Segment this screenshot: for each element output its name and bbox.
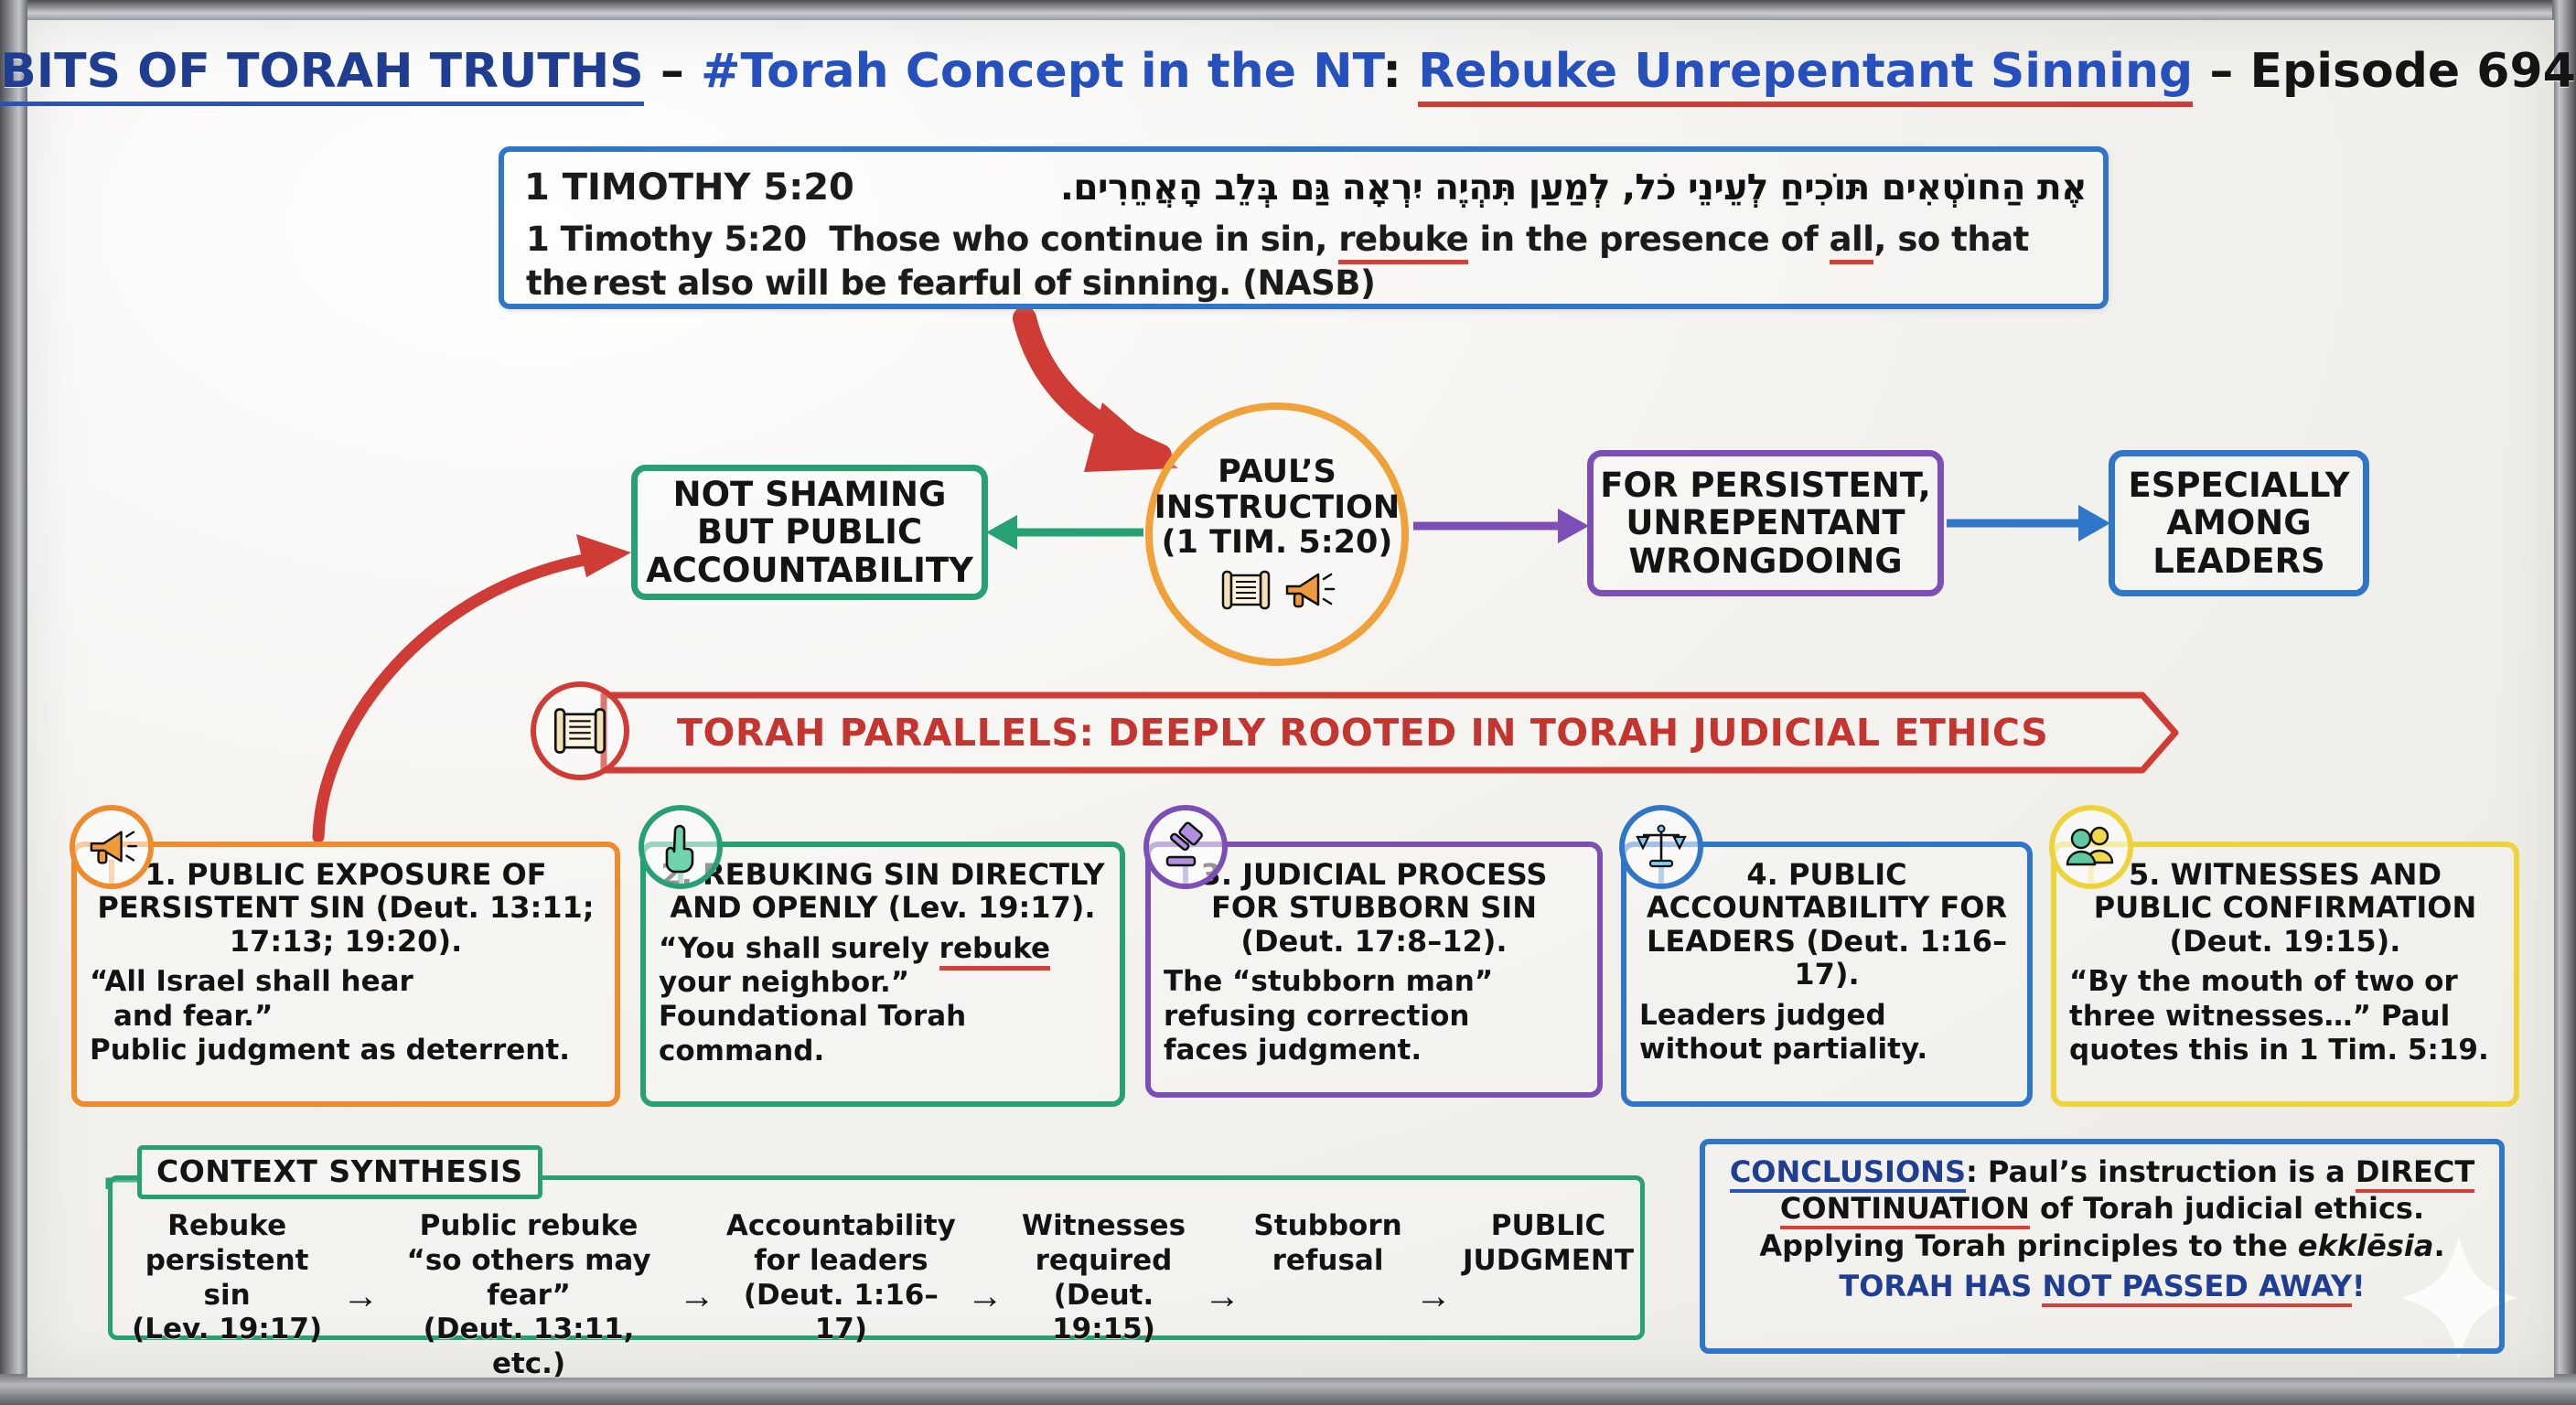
paul-line-2: INSTRUCTION [1154,490,1400,526]
card-4-badge [1619,805,1703,889]
scripture-box: 1 TIMOTHY 5:20 אֶת הַחוֹטְאִים תּוֹכִיחַ… [499,146,2109,309]
card-2-body-line-1: “You shall surely rebuke [659,932,1107,966]
title-topic: Rebuke Unrepentant Sinning [1418,44,2193,107]
card-4-body-line-2: without partiality. [1639,1033,2014,1067]
conclusions-l1-mid: Paul’s instruction is a [1988,1154,2356,1189]
card-5-body-line-3: quotes this in 1 Tim. 5:19. [2069,1034,2501,1067]
synthesis-arrow-1: → [335,1278,386,1314]
title-main: BITS OF TORAH TRUTHS [0,44,644,106]
synthesis-arrow-5: → [1408,1278,1459,1314]
synthesis-step-3-line-1: Accountability [726,1209,956,1244]
card-1-body-line-3: Public judgment as deterrent. [90,1034,602,1067]
conclusions-line-1: CONCLUSIONS: Paul’s instruction is a DIR… [1718,1153,2486,1190]
scripture-hebrew-text: אֶת הַחוֹטְאִים תּוֹכִיחַ לְעֵינֵי כֹל, … [854,167,2087,209]
synthesis-step-1-line-3: (Lev. 19:17) [123,1313,331,1347]
title-dash-2: – [2193,44,2249,99]
flow-box-persistent-wrongdoing[interactable]: FOR PERSISTENT, UNREPENTANT WRONGDOING [1587,450,1944,596]
torah-parallel-card-5[interactable]: 5. WITNESSES AND PUBLIC CONFIRMATION (De… [2051,842,2519,1107]
card-5-heading: 5. WITNESSES AND PUBLIC CONFIRMATION (De… [2069,858,2501,958]
conclusions-l4-pre: TORAH HAS [1839,1269,2042,1303]
synthesis-step-1-line-1: Rebuke [123,1209,331,1244]
card-2-body-pre: “You shall surely [659,932,939,965]
torah-scroll-icon [1219,566,1272,614]
conclusions-box: CONCLUSIONS: Paul’s instruction is a DIR… [1700,1139,2505,1354]
scales-of-justice-icon [1636,824,1687,870]
card-5-body-line-2: three witnesses…” Paul [2069,1000,2501,1034]
card-2-body-line-3: Foundational Torah command. [659,1000,1107,1067]
torah-parallel-card-1[interactable]: 1. PUBLIC EXPOSURE OF PERSISTENT SIN (De… [71,842,620,1107]
scripture-reference-plain: 1 Timothy 5:20 [526,220,807,259]
conclusions-colon: : [1966,1154,1988,1189]
synthesis-arrow-3: → [960,1278,1011,1314]
conclusions-l2-rest: of Torah judicial ethics. [2030,1191,2424,1226]
card-3-badge [1143,805,1228,889]
synthesis-step-4-line-3: (Deut. 19:15) [1014,1279,1193,1348]
arrow-scripture-to-paul [1025,318,1178,472]
synthesis-step-6-line-1: PUBLIC [1463,1209,1634,1244]
page-title: BITS OF TORAH TRUTHS – #Torah Concept in… [0,44,2576,99]
paul-line-3: (1 TIM. 5:20) [1162,525,1393,561]
synthesis-step-3: Accountability for leaders (Deut. 1:16–1… [723,1209,960,1347]
card-5-body: “By the mouth of two or three witnesses…… [2069,965,2501,1067]
card-5-badge [2049,805,2133,889]
scripture-header-row: 1 TIMOTHY 5:20 אֶת הַחוֹטְאִים תּוֹכִיחַ… [524,159,2087,216]
flow-box-especially-leaders[interactable]: ESPECIALLY AMONG LEADERS [2109,450,2369,596]
card-3-body-line-1: The “stubborn man” [1164,965,1584,999]
synthesis-step-4: Witnesses required (Deut. 19:15) [1011,1209,1197,1347]
torah-scroll-icon [552,703,608,758]
pointing-hand-icon [660,823,702,871]
scripture-text-pre: Those who continue in sin, [829,220,1338,259]
card-2-body: “You shall surely rebuke your neighbor.”… [659,932,1107,1068]
synthesis-step-2: Public rebuke “so others may fear” (Deut… [386,1209,671,1382]
flow-node-pauls-instruction[interactable]: PAUL’S INSTRUCTION (1 TIM. 5:20) [1145,402,1409,666]
context-synthesis-label: CONTEXT SYNTHESIS [137,1145,542,1199]
title-dash-1: – [644,44,701,99]
synthesis-step-2-line-2: “so others may fear” [390,1244,668,1314]
scripture-reference-caps: 1 TIMOTHY 5:20 [524,166,854,209]
card-5-body-line-1: “By the mouth of two or [2069,965,2501,999]
conclusions-l3-pre: Applying Torah principles to the [1759,1228,2298,1263]
conclusions-word-direct: DIRECT [2356,1154,2474,1193]
banner-text: TORAH PARALLELS: DEEPLY ROOTED IN TORAH … [677,711,2048,755]
synthesis-step-5-line-1: Stubborn [1251,1209,1404,1244]
scripture-word-rebuke: rebuke [1338,220,1468,264]
torah-parallel-card-4[interactable]: 4. PUBLIC ACCOUNTABILITY FOR LEADERS (De… [1621,842,2033,1107]
torah-parallel-card-2[interactable]: 2. REBUKING SIN DIRECTLY AND OPENLY (Lev… [640,842,1125,1107]
conclusions-word-continuation: CONTINUATION [1780,1191,2030,1229]
card-3-body-line-2: refusing correction [1164,1000,1584,1034]
synthesis-arrow-2: → [671,1278,723,1314]
synthesis-step-5: Stubborn refusal [1248,1209,1408,1279]
card-2-word-rebuke: rebuke [939,932,1050,971]
card-1-body-line-1: “All Israel shall hear [90,965,602,999]
synthesis-step-1: Rebuke persistent sin (Lev. 19:17) [119,1209,335,1347]
synthesis-arrow-4: → [1197,1278,1248,1314]
card-4-heading: 4. PUBLIC ACCOUNTABILITY FOR LEADERS (De… [1639,858,2014,992]
synthesis-step-2-line-3: (Deut. 13:11, etc.) [390,1313,668,1382]
card-3-body: The “stubborn man” refusing correction f… [1164,965,1584,1067]
scripture-text-mid: in the presence of [1468,220,1829,259]
arrow-persistent-to-leaders [1947,505,2110,542]
synthesis-step-6: PUBLIC JUDGMENT [1459,1209,1637,1279]
synthesis-step-3-line-2: for leaders [726,1244,956,1279]
synthesis-step-1-line-2: persistent sin [123,1244,331,1314]
synthesis-step-4-line-1: Witnesses [1014,1209,1193,1244]
scripture-english-line-2: rest also will be fearful of sinning. (N… [592,262,2085,306]
conclusions-line-2: CONTINUATION of Torah judicial ethics. [1718,1190,2486,1227]
torah-parallel-card-3[interactable]: 3. JUDICIAL PROCESS FOR STUBBORN SIN (De… [1145,842,1603,1098]
gavel-icon [1161,824,1210,870]
flow-box-not-shaming[interactable]: NOT SHAMING BUT PUBLIC ACCOUNTABILITY [631,465,988,600]
card-3-body-line-3: faces judgment. [1164,1034,1584,1067]
conclusions-word-ekklesia: ekklēsia [2298,1228,2434,1263]
conclusions-l4-underlined: NOT PASSED AWAY [2042,1269,2352,1307]
conclusions-l3-post: . [2433,1228,2444,1263]
title-hashtag: #Torah Concept in the NT [701,44,1382,99]
synthesis-step-2-line-1: Public rebuke [390,1209,668,1244]
megaphone-icon [1282,566,1335,614]
title-episode: Episode 694 [2249,44,2575,99]
card-2-badge [639,805,723,889]
context-synthesis-flow: Rebuke persistent sin (Lev. 19:17) → Pub… [119,1209,1637,1382]
card-1-body: “All Israel shall hear and fear.” Public… [90,965,602,1067]
title-colon: : [1382,44,1418,99]
card-4-body: Leaders judged without partiality. [1639,999,2014,1067]
card-4-body-line-1: Leaders judged [1639,999,2014,1033]
conclusions-line-3: Applying Torah principles to the ekklēsi… [1718,1228,2486,1264]
synthesis-step-6-line-2: JUDGMENT [1463,1244,1634,1279]
paul-icon-group [1219,566,1335,614]
arrow-paul-to-persistent [1413,509,1589,543]
synthesis-step-5-line-2: refusal [1251,1244,1404,1279]
paul-line-1: PAUL’S [1218,455,1336,490]
conclusions-line-4: TORAH HAS NOT PASSED AWAY! [1718,1268,2486,1304]
conclusions-label: CONCLUSIONS [1730,1154,1966,1193]
card-3-heading: 3. JUDICIAL PROCESS FOR STUBBORN SIN (De… [1164,858,1584,958]
megaphone-icon [85,824,138,870]
synthesis-step-3-line-3: (Deut. 1:16–17) [726,1279,956,1348]
card-1-heading: 1. PUBLIC EXPOSURE OF PERSISTENT SIN (De… [90,858,602,958]
card-2-heading: 2. REBUKING SIN DIRECTLY AND OPENLY (Lev… [659,858,1107,925]
two-people-icon [2065,826,2118,868]
arrow-paul-to-not-shaming [986,515,1143,550]
synthesis-step-4-line-2: required [1014,1244,1193,1279]
card-1-body-line-2: and fear.” [90,1000,602,1034]
conclusions-l4-post: ! [2352,1269,2366,1303]
scripture-word-all: all [1830,220,1874,264]
card-2-body-line-2: your neighbor.” [659,966,1107,1000]
torah-parallels-banner: TORAH PARALLELS: DEEPLY ROOTED IN TORAH … [604,695,2168,770]
card-1-badge [70,805,154,889]
